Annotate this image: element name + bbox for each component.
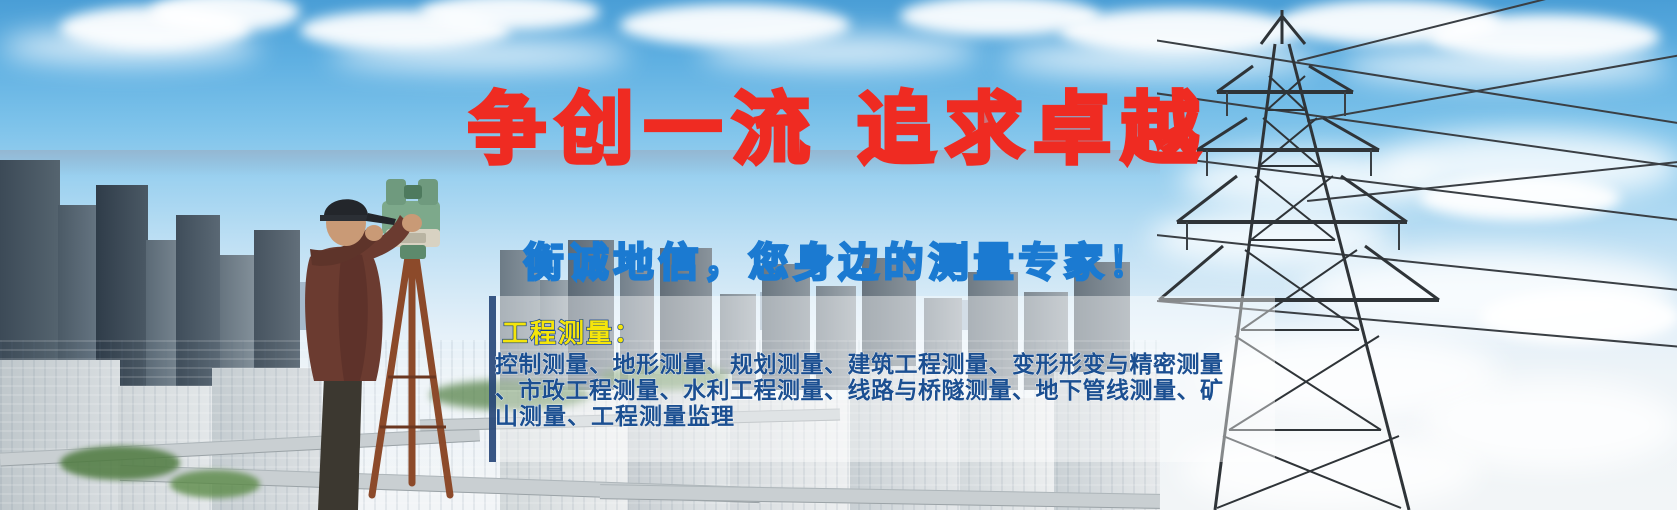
services-panel-title: 工程测量： (502, 313, 642, 350)
services-line-2: 、市政工程测量、水利工程测量、线路与桥隧测量、地下管线测量、矿 (495, 378, 1270, 404)
services-line-1: 控制测量、地形测量、规划测量、建筑工程测量、变形形变与精密测量 (495, 352, 1270, 378)
services-panel-body: 控制测量、地形测量、规划测量、建筑工程测量、变形形变与精密测量 、市政工程测量、… (495, 352, 1270, 430)
services-line-3: 山测量、工程测量监理 (495, 404, 1270, 430)
hero-banner: 争创一流 追求卓越 衡诚地信，您身边的测量专家！ 工程测量： 控制测量、地形测量… (0, 0, 1677, 510)
